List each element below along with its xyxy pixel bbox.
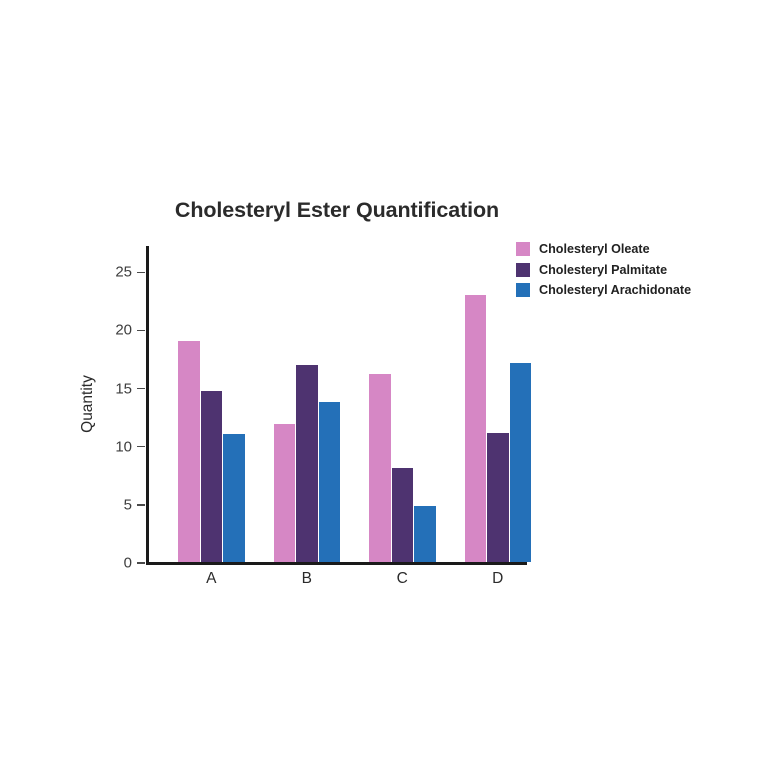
legend-item[interactable]: Cholesteryl Arachidonate (516, 280, 691, 301)
bar (487, 433, 509, 562)
bar (414, 506, 436, 562)
chart-legend: Cholesteryl OleateCholesteryl PalmitateC… (516, 239, 691, 301)
bar (223, 434, 245, 562)
legend-swatch-icon (516, 242, 530, 256)
legend-item[interactable]: Cholesteryl Oleate (516, 239, 691, 260)
y-axis-line (146, 246, 149, 562)
x-axis-line (146, 562, 527, 565)
plot-area: 0510152025 (146, 246, 527, 562)
legend-swatch-icon (516, 283, 530, 297)
y-axis-tick: 5 (137, 504, 145, 506)
y-axis-tick-label: 20 (115, 322, 132, 339)
bar (369, 374, 391, 562)
x-axis-group-label: C (397, 570, 408, 588)
y-axis-tick: 15 (137, 388, 145, 390)
x-axis-group-label: B (302, 570, 312, 588)
bar (178, 341, 200, 562)
y-axis-tick: 25 (137, 272, 145, 274)
bar (392, 468, 414, 562)
chart-title: Cholesteryl Ester Quantification (146, 198, 528, 223)
legend-label: Cholesteryl Oleate (539, 242, 650, 256)
bar (465, 295, 487, 562)
y-axis-tick-label: 10 (115, 438, 132, 455)
y-axis-tick: 10 (137, 446, 145, 448)
x-axis-group-label: D (492, 570, 503, 588)
y-axis-tick-label: 5 (124, 496, 132, 513)
legend-item[interactable]: Cholesteryl Palmitate (516, 260, 691, 281)
bar (510, 363, 532, 562)
legend-label: Cholesteryl Palmitate (539, 263, 667, 277)
chart-figure: Cholesteryl Ester Quantification Quantit… (0, 0, 773, 762)
bar (319, 402, 341, 562)
y-axis-title: Quantity (79, 375, 97, 433)
bar (274, 424, 296, 562)
bar (201, 391, 223, 562)
y-axis-tick-label: 25 (115, 264, 132, 281)
y-axis-tick: 20 (137, 330, 145, 332)
x-axis-group-label: A (206, 570, 216, 588)
bar (296, 365, 318, 563)
y-axis-tick-label: 0 (124, 554, 132, 571)
y-axis-tick-label: 15 (115, 380, 132, 397)
legend-label: Cholesteryl Arachidonate (539, 283, 691, 297)
legend-swatch-icon (516, 263, 530, 277)
y-axis-tick: 0 (137, 562, 145, 564)
